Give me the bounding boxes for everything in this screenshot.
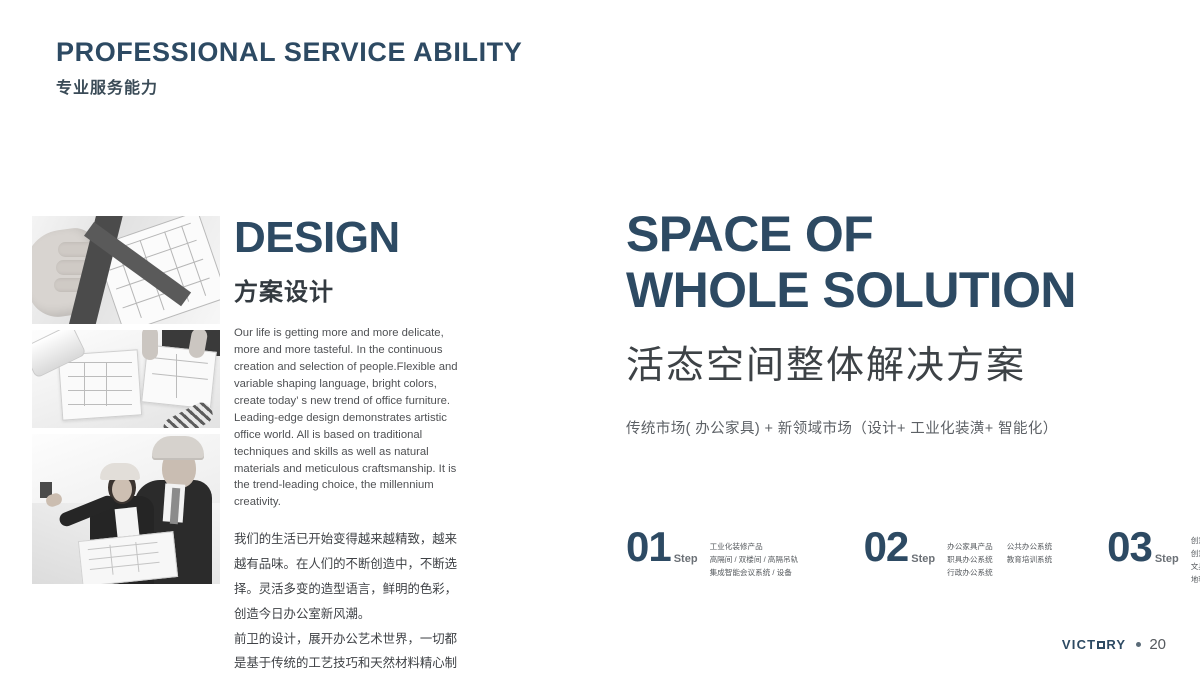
design-paragraph-chinese-1: 我们的生活已开始变得越来越精致，越来越有品味。在人们的不断创造中，不断选择。灵活… [234,527,459,626]
slide-footer: VICT RY 20 [1062,636,1166,653]
step-detail-line: 地毯 / 窗帘 / 办公灯具…… [1191,573,1200,586]
step-detail-line: 办公家具产品 [947,542,993,551]
solution-heading-line-2: WHOLE SOLUTION [626,262,1126,318]
step-detail-line: 公共办公系统 [1007,540,1053,553]
footer-bullet-icon [1136,642,1141,647]
engineers-hardhats-photo [32,434,220,584]
page-title-chinese: 专业服务能力 [56,74,522,98]
photo-stack [32,216,220,584]
step-detail-line: 文具饰品 [1191,560,1200,573]
hand-ruler-blueprint-photo [32,216,220,324]
brand-text-part-2: RY [1106,637,1126,652]
step-word: Step [674,553,698,565]
step-number: 03 [1107,528,1152,567]
design-paragraph-chinese-2: 前卫的设计，展开办公艺术世界，一切都是基于传统的工艺技巧和天然材料精心制作而成，… [234,627,459,675]
step-detail-line: 职具办公系统 [947,555,993,564]
solution-note: 传统市场( 办公家具) + 新领域市场（设计+ 工业化装潢+ 智能化） [626,417,1126,438]
step-detail-line: 集成智能会议系统 / 设备 [710,566,822,579]
blueprints-on-desk-photo [32,330,220,428]
step-detail-line: 高隔间 / 双楼间 / 高隔吊轨 [710,553,822,566]
step-item-03: 03 Step 创意软装产品 创意软包 文具饰品 地毯 / 窗帘 / 办公灯具…… [1107,528,1200,586]
brand-square-o-icon [1097,641,1105,649]
step-detail-line: 创意软包 [1191,547,1200,560]
step-word: Step [1155,553,1179,565]
step-detail-line: 创意软装产品 [1191,534,1200,547]
brand-text-part-1: VICT [1062,637,1096,652]
brand-logo: VICT RY [1062,637,1126,652]
design-subheading: 方案设计 [234,272,459,307]
steps-row: 01 Step 工业化装修产品 高隔间 / 双楼间 / 高隔吊轨 集成智能会议系… [626,528,1148,598]
design-block: DESIGN 方案设计 Our life is getting more and… [234,216,459,675]
step-number: 02 [864,528,909,567]
solution-heading-line-1: SPACE OF [626,206,1126,262]
step-detail-line: 工业化装修产品 [710,540,822,553]
slide-header: PROFESSIONAL SERVICE ABILITY 专业服务能力 [56,38,522,98]
page-title-english: PROFESSIONAL SERVICE ABILITY [56,38,522,68]
design-paragraph-english: Our life is getting more and more delica… [234,325,459,511]
step-word: Step [911,553,935,565]
solution-block: SPACE OF WHOLE SOLUTION 活态空间整体解决方案 传统市场(… [626,206,1126,438]
slide-root: PROFESSIONAL SERVICE ABILITY 专业服务能力 [0,0,1200,675]
step-item-01: 01 Step 工业化装修产品 高隔间 / 双楼间 / 高隔吊轨 集成智能会议系… [626,528,822,579]
step-number: 01 [626,528,671,567]
step-detail-line: 教育培训系统 [1007,553,1053,566]
step-item-02: 02 Step 办公家具产品公共办公系统 职具办公系统教育培训系统 行政办公系统 [864,528,1066,579]
solution-heading-chinese: 活态空间整体解决方案 [626,334,1126,389]
design-heading: DESIGN [234,216,459,260]
step-detail-line: 行政办公系统 [947,568,993,577]
page-number: 20 [1149,636,1166,653]
